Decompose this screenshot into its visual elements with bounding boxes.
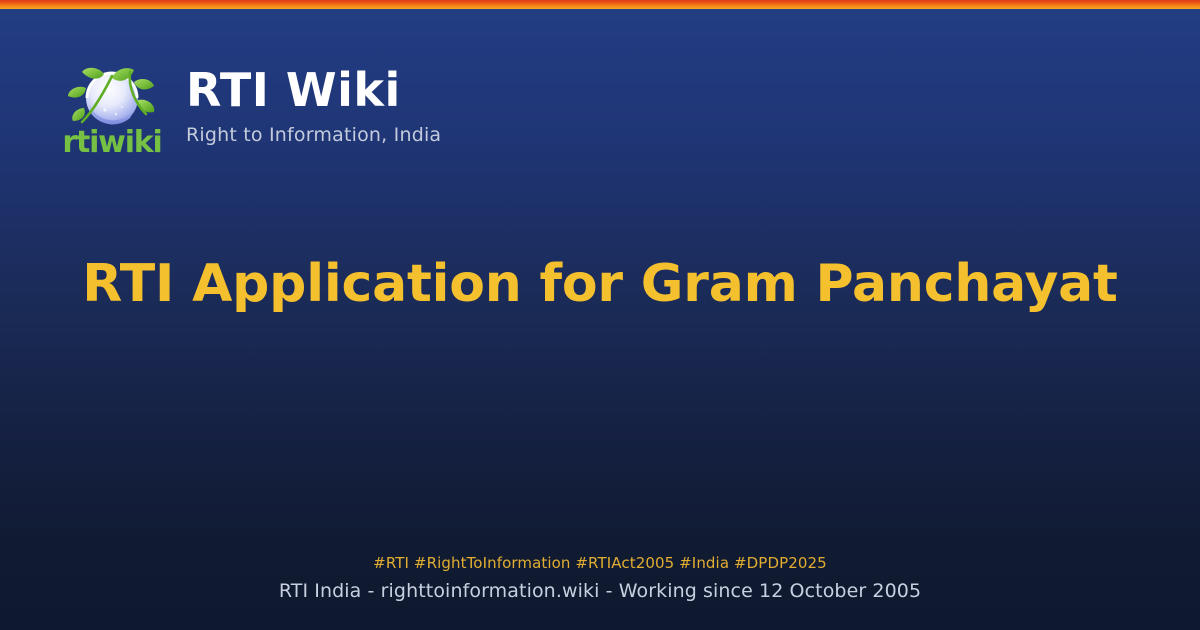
card-footer: #RTI #RightToInformation #RTIAct2005 #In… — [0, 554, 1200, 602]
top-accent-bar — [0, 0, 1200, 9]
social-share-card: rtiwiki RTI Wiki Right to Information, I… — [0, 0, 1200, 630]
page-title: RTI Application for Gram Panchayat — [60, 255, 1140, 315]
brand-text-block: RTI Wiki Right to Information, India — [186, 62, 441, 146]
site-tagline: Right to Information, India — [186, 124, 441, 146]
site-header: rtiwiki RTI Wiki Right to Information, I… — [60, 62, 441, 162]
site-credit-line: RTI India - righttoinformation.wiki - Wo… — [0, 580, 1200, 602]
headline-container: RTI Application for Gram Panchayat — [0, 255, 1200, 315]
site-title: RTI Wiki — [186, 66, 441, 114]
hashtag-list: #RTI #RightToInformation #RTIAct2005 #In… — [0, 554, 1200, 572]
rtiwiki-logo-icon[interactable]: rtiwiki — [60, 62, 164, 162]
logo-wordmark-text: rtiwiki — [62, 125, 161, 160]
